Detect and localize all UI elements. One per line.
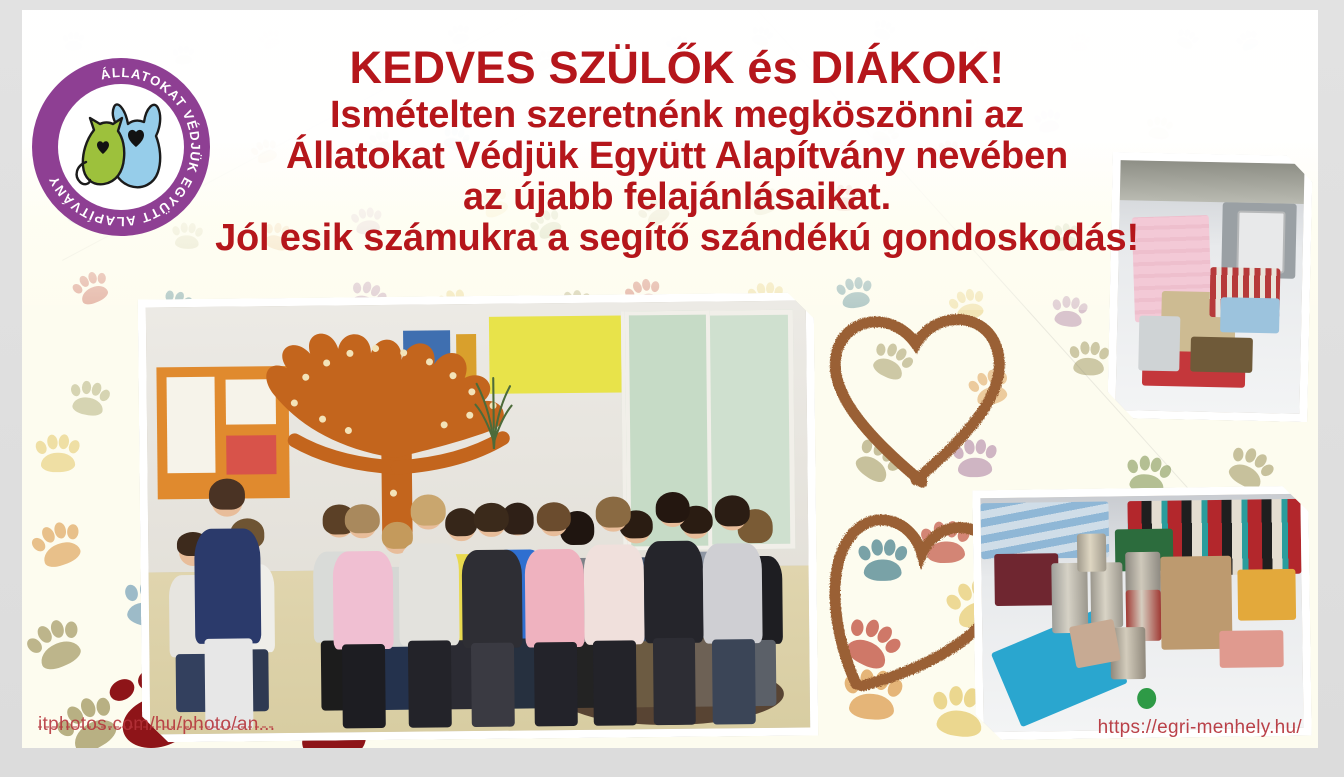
watermark-right: https://egri-menhely.hu/ (1098, 717, 1302, 739)
food-can (1090, 562, 1123, 628)
poster-viewport: ÁLLATOKAT VÉDJÜK EGYÜTT ALAPÍTVÁNY KEDVE… (0, 0, 1344, 777)
watermark-left-text: itphotos.com/hu/photo/an... (38, 714, 275, 735)
paw-print (964, 364, 1018, 413)
watermark-left: itphotos.com/hu/photo/an... (38, 714, 275, 736)
potted-plant (463, 338, 524, 450)
paw-print (919, 519, 976, 569)
paw-print (33, 433, 84, 477)
cat-shape (77, 118, 125, 184)
food-can (1052, 562, 1088, 633)
group-photo-image (146, 301, 810, 735)
watermark-strikethrough (38, 726, 275, 728)
donation-food-cans-image (980, 494, 1303, 732)
group-photo-students (138, 292, 819, 742)
paw-print (61, 31, 86, 52)
white-panel (1236, 210, 1285, 273)
paw-print (864, 336, 921, 390)
paw-print (945, 284, 993, 328)
food-can (1077, 534, 1106, 572)
paw-print (844, 431, 910, 495)
headline-line-5: Jól esik számukra a segítő szándékú gond… (142, 218, 1212, 259)
blue-blanket (1220, 297, 1280, 333)
brown-blanket (1190, 337, 1253, 373)
paw-print (1048, 293, 1092, 333)
paw-print (1067, 340, 1114, 381)
paw-print (26, 514, 95, 578)
pink-fabric (1219, 630, 1284, 668)
paw-print (64, 377, 115, 423)
page-title: KEDVES SZÜLŐK és DIÁKOK! Ismételten szer… (142, 44, 1212, 259)
student (461, 509, 523, 723)
maroon-fabric (994, 553, 1059, 605)
student (643, 498, 705, 721)
donation-food-cans-photo (972, 486, 1311, 741)
paw-print (869, 17, 899, 45)
student (194, 486, 263, 726)
headline-line-2: Ismételten szeretnénk megköszönni az (142, 95, 1212, 136)
student (333, 510, 395, 724)
recycle-badge (1137, 688, 1156, 709)
paw-print (834, 274, 879, 314)
student (702, 502, 764, 720)
paw-print (1234, 26, 1265, 56)
paw-print (68, 265, 118, 313)
food-tray (1068, 619, 1120, 669)
student (399, 501, 461, 724)
yellow-fabric (1237, 569, 1295, 621)
grey-bag (1138, 316, 1180, 372)
headline-line-3: Állatokat Védjük Együtt Alapítvány nevéb… (142, 136, 1212, 177)
paw-print (950, 437, 1001, 481)
paw-print (839, 666, 909, 728)
student (583, 503, 645, 721)
student (524, 508, 586, 722)
poster-canvas: ÁLLATOKAT VÉDJÜK EGYÜTT ALAPÍTVÁNY KEDVE… (22, 10, 1318, 748)
headline-line-4: az újabb felajánlásaikat. (142, 177, 1212, 218)
paw-print (857, 538, 913, 586)
wooden-tree-decoration (205, 316, 590, 542)
headline-line-1: KEDVES SZÜLŐK és DIÁKOK! (142, 44, 1212, 93)
